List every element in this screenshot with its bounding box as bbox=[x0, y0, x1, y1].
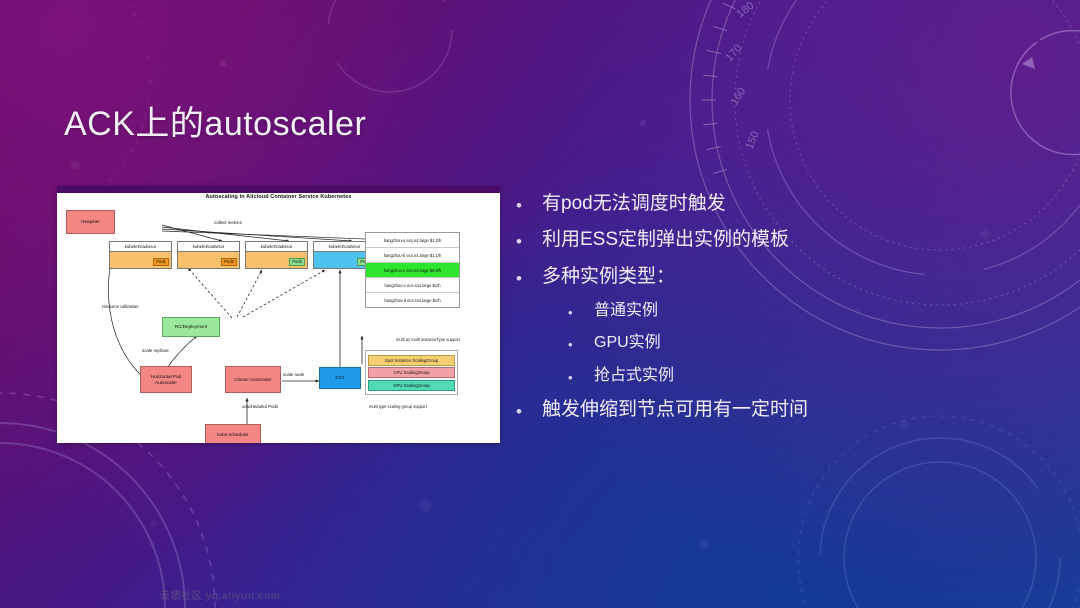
node-label: Horizontal Pod Autoscaler bbox=[142, 374, 190, 385]
bullet-text: GPU实例 bbox=[594, 333, 661, 353]
diagram-connectors bbox=[57, 186, 500, 443]
pod-tag: Pod1 bbox=[153, 258, 169, 267]
bullet-marker: • bbox=[568, 366, 594, 384]
kubelet-body: Pod3 bbox=[246, 251, 307, 268]
bullet-marker: • bbox=[516, 228, 542, 250]
bullet-marker: • bbox=[516, 192, 542, 214]
kubelet-node: kubelet/cadvisor Pod2 bbox=[177, 241, 240, 269]
bullet-item: • 触发伸缩到节点可用有一定时间 bbox=[516, 398, 1036, 422]
scaling-group-spot: Spot Instance ScalingGroup bbox=[368, 355, 455, 366]
node-label: kube-scheduler bbox=[217, 432, 248, 437]
kubelet-caption: kubelet/cadvisor bbox=[110, 242, 171, 251]
instance-list-caption: multi az multi instanceType support bbox=[396, 337, 460, 342]
bullet-text: 有pod无法调度时触发 bbox=[542, 192, 726, 216]
kubelet-node: kubelet/cadvisor Pod1 bbox=[109, 241, 172, 269]
kubelet-body: Pod2 bbox=[178, 251, 239, 268]
bullet-item: • 有pod无法调度时触发 bbox=[516, 192, 1036, 216]
bullet-item-sub: • 普通实例 bbox=[568, 301, 1036, 321]
scaling-group-cpu: CPU ScalingGroup bbox=[368, 367, 455, 378]
bullet-text: 利用ESS定制弹出实例的模板 bbox=[542, 228, 789, 252]
pod-tag: Pod3 bbox=[289, 258, 305, 267]
bullet-marker: • bbox=[516, 265, 542, 287]
node-rc-deployment: RC/Deployment bbox=[162, 317, 220, 337]
scaling-group-list: Spot Instance ScalingGroup CPU ScalingGr… bbox=[365, 350, 458, 395]
speck bbox=[70, 160, 80, 170]
scaling-groups-caption: multi type scaling group support bbox=[369, 404, 427, 409]
bullet-item: • 多种实例类型： bbox=[516, 265, 1036, 289]
pod-tag: Pod2 bbox=[221, 258, 237, 267]
kubelet-body: Pod1 bbox=[110, 251, 171, 268]
bullet-text: 抢占式实例 bbox=[594, 366, 674, 386]
svg-text:180: 180 bbox=[734, 0, 756, 20]
kubelet-node: kubelet/cadvisor Pod3 bbox=[245, 241, 308, 269]
node-heapster: Heapster bbox=[66, 210, 115, 234]
svg-text:150: 150 bbox=[744, 130, 762, 152]
instance-row: hangzhou-d ecs.sn1.large $1/h bbox=[366, 293, 459, 307]
edge-label-scale-replicas: scale replicas bbox=[142, 348, 169, 353]
bullet-item-sub: • GPU实例 bbox=[568, 333, 1036, 353]
slide-canvas: 150 160 170 180 190 200 210 220 bbox=[0, 0, 1080, 608]
speck bbox=[150, 520, 157, 527]
speck bbox=[700, 540, 709, 549]
architecture-diagram-image: Autoscaling in Alicloud Container Servic… bbox=[57, 186, 500, 443]
speck bbox=[640, 120, 646, 126]
edge-label-resource-utilization: resource utilization bbox=[102, 304, 139, 309]
instance-type-list: hangzhou-a ecs.n4.large $1.2/h hangzhou-… bbox=[365, 232, 460, 308]
speck bbox=[220, 60, 227, 67]
node-kube-scheduler: kube-scheduler bbox=[205, 424, 261, 443]
node-label: Cluster Autoscaler bbox=[234, 377, 271, 382]
svg-text:170: 170 bbox=[723, 42, 744, 64]
node-cluster-autoscaler: Cluster Autoscaler bbox=[225, 366, 281, 393]
bullet-marker: • bbox=[568, 333, 594, 351]
page-title: ACK上的autoscaler bbox=[64, 96, 366, 145]
edge-label-unscheduled-pods: unscheduled Pods bbox=[242, 404, 278, 409]
bullet-item-sub: • 抢占式实例 bbox=[568, 366, 1036, 386]
scaling-group-gpu: GPU ScalingGroup bbox=[368, 380, 455, 391]
instance-row-selected: hangzhou-c ecs.n4.large $0.8/h bbox=[366, 263, 459, 278]
instance-row: hangzhou-a ecs.n4.large $1.2/h bbox=[366, 233, 459, 248]
node-label: ESS bbox=[335, 375, 344, 380]
edge-label-collect-metrics: collect metrics bbox=[214, 220, 242, 225]
bullet-text: 触发伸缩到节点可用有一定时间 bbox=[542, 398, 808, 422]
node-label: RC/Deployment bbox=[175, 324, 207, 329]
bullet-text: 多种实例类型： bbox=[542, 265, 675, 289]
svg-text:160: 160 bbox=[728, 86, 748, 108]
node-ess: ESS bbox=[319, 367, 361, 389]
node-label: Heapster bbox=[81, 219, 100, 224]
instance-row: hangzhou-b ecs.n4.large $1.1/h bbox=[366, 248, 459, 263]
bullet-marker: • bbox=[568, 301, 594, 319]
bullet-text: 普通实例 bbox=[594, 301, 658, 321]
kubelet-caption: kubelet/cadvisor bbox=[246, 242, 307, 251]
edge-label-scale-node: scale node bbox=[283, 372, 304, 377]
node-horizontal-pod-autoscaler: Horizontal Pod Autoscaler bbox=[140, 366, 192, 393]
instance-row: hangzhou-c ecs.sn1.large $1/h bbox=[366, 278, 459, 293]
speck bbox=[420, 500, 432, 512]
kubelet-caption: kubelet/cadvisor bbox=[178, 242, 239, 251]
bullet-item: • 利用ESS定制弹出实例的模板 bbox=[516, 228, 1036, 252]
watermark: 云栖社区 yq.aliyun.com bbox=[160, 587, 1080, 602]
bullet-list: • 有pod无法调度时触发 • 利用ESS定制弹出实例的模板 • 多种实例类型：… bbox=[516, 192, 1036, 435]
bullet-marker: • bbox=[516, 398, 542, 420]
